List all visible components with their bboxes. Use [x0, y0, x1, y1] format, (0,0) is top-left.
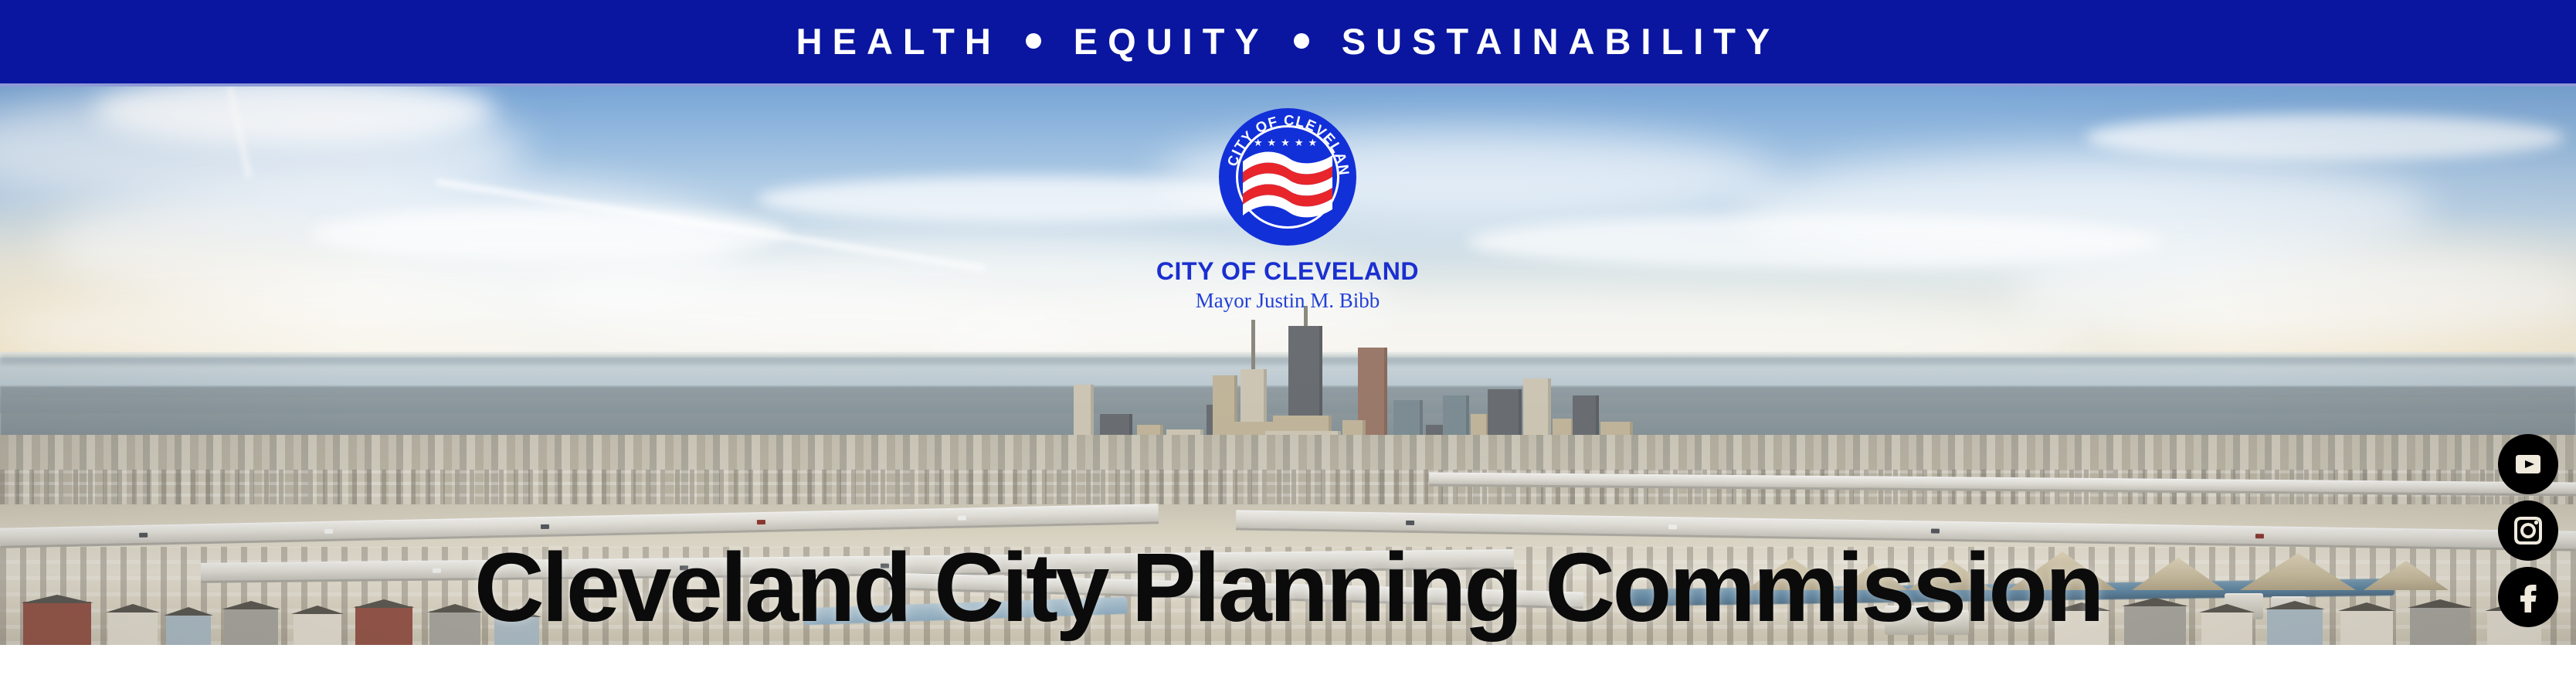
city-of-cleveland-seal-icon: CITY OF CLEVELAND OHIO ★★★★★ — [1219, 108, 1356, 246]
tagline-banner: HEALTH EQUITY SUSTAINABILITY — [0, 0, 2576, 83]
tagline-inner: HEALTH EQUITY SUSTAINABILITY — [796, 23, 1780, 59]
page-title: Cleveland City Planning Commission — [0, 539, 2576, 636]
tagline-word-sustainability: SUSTAINABILITY — [1342, 23, 1780, 59]
bullet-dot-icon — [1294, 33, 1309, 49]
footer-white-strip — [0, 645, 2576, 682]
cloud — [2086, 114, 2564, 161]
seal-flag-graphic — [1238, 127, 1337, 226]
bullet-dot-icon — [1026, 33, 1041, 49]
cloud — [2008, 246, 2576, 346]
youtube-icon[interactable] — [2498, 434, 2558, 494]
banner-underline-divider — [0, 83, 2576, 87]
mayor-name: Mayor Justin M. Bibb — [1017, 288, 1558, 314]
tagline-word-equity: EQUITY — [1074, 23, 1269, 59]
city-logo-block: CITY OF CLEVELAND OHIO ★★★★★ CITY OF CLE… — [1017, 108, 1558, 314]
terminal-tower-spire — [1251, 320, 1255, 375]
tagline-word-health: HEALTH — [796, 23, 1001, 59]
page-root: HEALTH EQUITY SUSTAINABILITY — [0, 0, 2576, 682]
social-links-rail — [2498, 434, 2558, 627]
instagram-icon[interactable] — [2498, 500, 2558, 561]
facebook-icon[interactable] — [2498, 567, 2558, 627]
organization-name: CITY OF CLEVELAND — [1017, 258, 1558, 285]
